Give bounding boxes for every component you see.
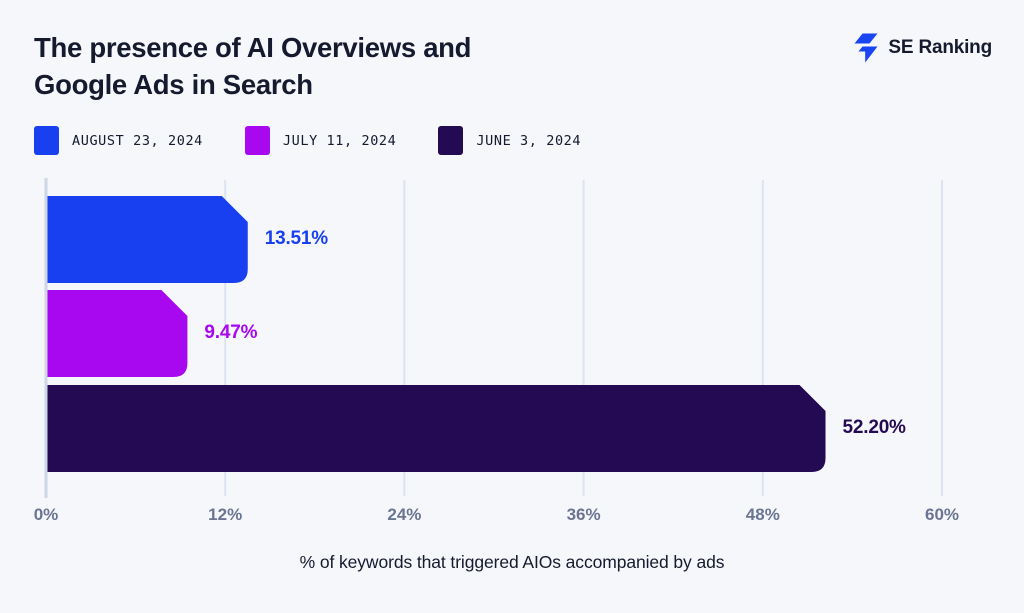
bar-value-label: 13.51% bbox=[265, 228, 328, 250]
bar[interactable] bbox=[46, 196, 248, 283]
x-axis-tick-label: 36% bbox=[567, 505, 601, 525]
legend-item[interactable]: AUGUST 23, 2024 bbox=[34, 126, 203, 155]
x-axis-ticks: 0%12%24%36%48%60% bbox=[0, 505, 1024, 535]
bar[interactable] bbox=[46, 385, 826, 472]
legend-item[interactable]: JULY 11, 2024 bbox=[245, 126, 396, 155]
legend-color-swatch bbox=[34, 126, 59, 155]
legend-color-swatch bbox=[245, 126, 270, 155]
x-axis-tick-label: 60% bbox=[925, 505, 959, 525]
page-title: The presence of AI Overviews and Google … bbox=[34, 30, 634, 103]
bar[interactable] bbox=[46, 290, 187, 377]
lightning-bolt-icon bbox=[853, 32, 879, 64]
x-axis-tick-label: 12% bbox=[208, 505, 242, 525]
x-axis-tick-label: 24% bbox=[387, 505, 421, 525]
chart-plot-area: 13.51%9.47%52.20% bbox=[0, 178, 1024, 498]
x-axis-tick-label: 48% bbox=[746, 505, 780, 525]
x-axis-tick-label: 0% bbox=[34, 505, 59, 525]
brand-name: SE Ranking bbox=[888, 37, 992, 59]
legend-item-label: JULY 11, 2024 bbox=[283, 133, 396, 149]
chart-header: The presence of AI Overviews and Google … bbox=[0, 0, 1024, 115]
bar-value-label: 52.20% bbox=[843, 417, 906, 439]
brand-logo-group: SE Ranking bbox=[853, 32, 992, 64]
x-axis-caption: % of keywords that triggered AIOs accomp… bbox=[0, 552, 1024, 573]
legend-item-label: AUGUST 23, 2024 bbox=[72, 133, 203, 149]
legend-item-label: JUNE 3, 2024 bbox=[476, 133, 581, 149]
legend-color-swatch bbox=[438, 126, 463, 155]
legend-item[interactable]: JUNE 3, 2024 bbox=[438, 126, 581, 155]
chart-legend: AUGUST 23, 2024JULY 11, 2024JUNE 3, 2024 bbox=[34, 126, 581, 155]
chart-bars-svg bbox=[0, 178, 1024, 498]
bar-value-label: 9.47% bbox=[204, 322, 257, 344]
